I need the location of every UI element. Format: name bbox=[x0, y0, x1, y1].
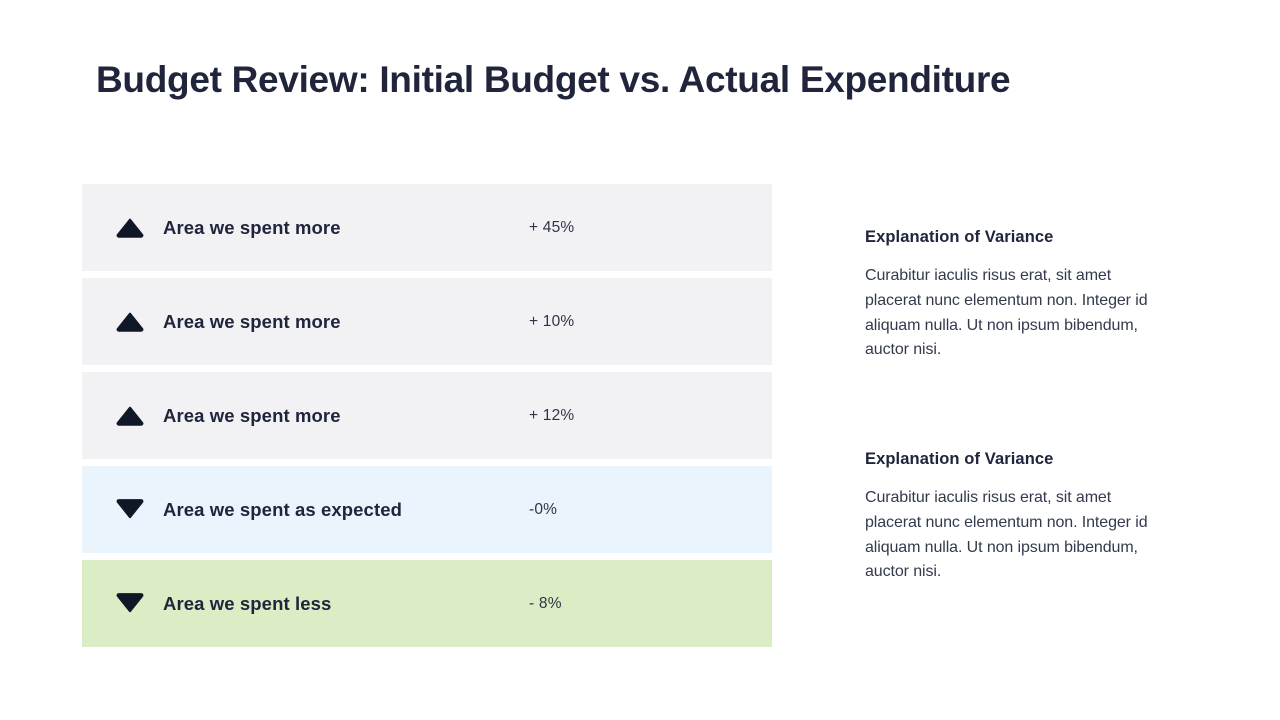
explanation-heading: Explanation of Variance bbox=[865, 448, 1155, 470]
slide-canvas: Budget Review: Initial Budget vs. Actual… bbox=[0, 0, 1280, 720]
variance-row-value: + 10% bbox=[529, 313, 574, 331]
variance-row[interactable]: Area we spent as expected-0% bbox=[82, 466, 772, 553]
triangle-down-icon bbox=[110, 496, 150, 524]
variance-row[interactable]: Area we spent less- 8% bbox=[82, 560, 772, 647]
explanation-body: Curabitur iaculis risus erat, sit amet p… bbox=[865, 486, 1153, 585]
triangle-down-icon bbox=[110, 590, 150, 618]
triangle-up-icon bbox=[110, 308, 150, 336]
variance-row-value: + 12% bbox=[529, 407, 574, 425]
variance-row-label: Area we spent as expected bbox=[163, 499, 402, 521]
explanation-block: Explanation of Variance Curabitur iaculi… bbox=[865, 448, 1155, 585]
variance-list: Area we spent more+ 45%Area we spent mor… bbox=[82, 184, 772, 654]
variance-row[interactable]: Area we spent more+ 12% bbox=[82, 372, 772, 459]
triangle-up-icon bbox=[110, 402, 150, 430]
explanation-heading: Explanation of Variance bbox=[865, 226, 1155, 248]
variance-row[interactable]: Area we spent more+ 45% bbox=[82, 184, 772, 271]
explanation-block: Explanation of Variance Curabitur iaculi… bbox=[865, 226, 1155, 363]
variance-row-label: Area we spent more bbox=[163, 217, 341, 239]
explanation-body: Curabitur iaculis risus erat, sit amet p… bbox=[865, 264, 1153, 363]
variance-row-label: Area we spent less bbox=[163, 593, 331, 615]
variance-row[interactable]: Area we spent more+ 10% bbox=[82, 278, 772, 365]
page-title: Budget Review: Initial Budget vs. Actual… bbox=[96, 56, 1196, 104]
variance-row-value: + 45% bbox=[529, 219, 574, 237]
variance-row-label: Area we spent more bbox=[163, 405, 341, 427]
triangle-up-icon bbox=[110, 214, 150, 242]
variance-row-value: -0% bbox=[529, 501, 557, 519]
variance-row-value: - 8% bbox=[529, 595, 562, 613]
variance-row-label: Area we spent more bbox=[163, 311, 341, 333]
